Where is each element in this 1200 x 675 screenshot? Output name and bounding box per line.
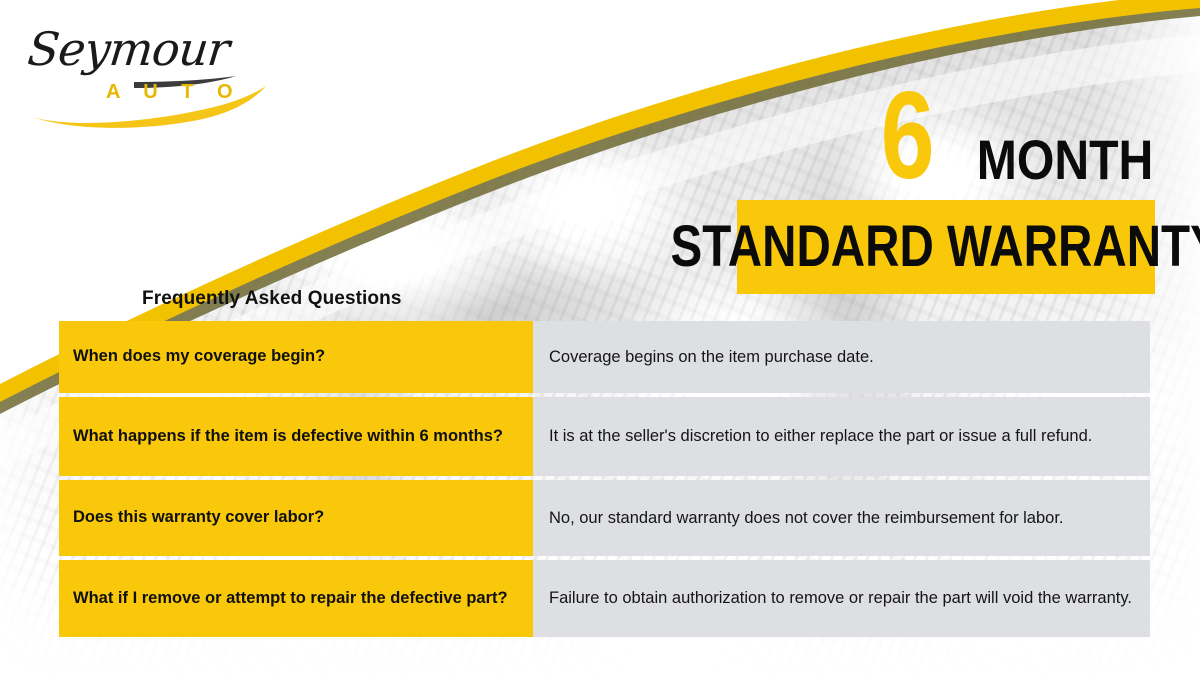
faq-question-text: When does my coverage begin? xyxy=(73,346,325,367)
warranty-duration-number: 6 xyxy=(881,74,933,198)
standard-warranty-label: STANDARD WARRANTY xyxy=(670,218,1200,276)
faq-answer-cell: Coverage begins on the item purchase dat… xyxy=(533,321,1150,393)
faq-answer-text: Coverage begins on the item purchase dat… xyxy=(549,346,1132,368)
faq-question-text: What happens if the item is defective wi… xyxy=(73,426,503,447)
table-row: Does this warranty cover labor? No, our … xyxy=(59,480,1150,556)
table-row: What if I remove or attempt to repair th… xyxy=(59,560,1150,637)
faq-answer-cell: Failure to obtain authorization to remov… xyxy=(533,560,1150,637)
faq-answer-text: Failure to obtain authorization to remov… xyxy=(549,587,1132,609)
logo-subword: A U T O xyxy=(106,82,242,102)
faq-question-cell: Does this warranty cover labor? xyxy=(59,480,527,556)
faq-question-cell: When does my coverage begin? xyxy=(59,321,527,393)
seymour-auto-logo: Seymour A U T O xyxy=(22,20,282,130)
faq-question-text: What if I remove or attempt to repair th… xyxy=(73,588,508,609)
warranty-duration-unit: MONTH xyxy=(976,132,1153,188)
standard-warranty-banner: STANDARD WARRANTY xyxy=(737,200,1155,294)
warranty-slide: Seymour A U T O 6 MONTH STANDARD WARRANT… xyxy=(0,0,1200,675)
faq-question-cell: What happens if the item is defective wi… xyxy=(59,397,527,476)
warranty-headline: 6 MONTH STANDARD WARRANTY xyxy=(735,78,1155,298)
faq-answer-text: It is at the seller's discretion to eith… xyxy=(549,425,1132,447)
faq-table: When does my coverage begin? Coverage be… xyxy=(59,321,1150,637)
table-row: When does my coverage begin? Coverage be… xyxy=(59,321,1150,393)
table-row: What happens if the item is defective wi… xyxy=(59,397,1150,476)
faq-question-cell: What if I remove or attempt to repair th… xyxy=(59,560,527,637)
faq-answer-cell: No, our standard warranty does not cover… xyxy=(533,480,1150,556)
faq-answer-text: No, our standard warranty does not cover… xyxy=(549,507,1132,529)
faq-heading: Frequently Asked Questions xyxy=(142,288,402,310)
faq-question-text: Does this warranty cover labor? xyxy=(73,507,324,528)
headline-top-row: 6 MONTH xyxy=(735,78,1155,190)
logo-wordmark: Seymour xyxy=(26,26,231,72)
faq-answer-cell: It is at the seller's discretion to eith… xyxy=(533,397,1150,476)
